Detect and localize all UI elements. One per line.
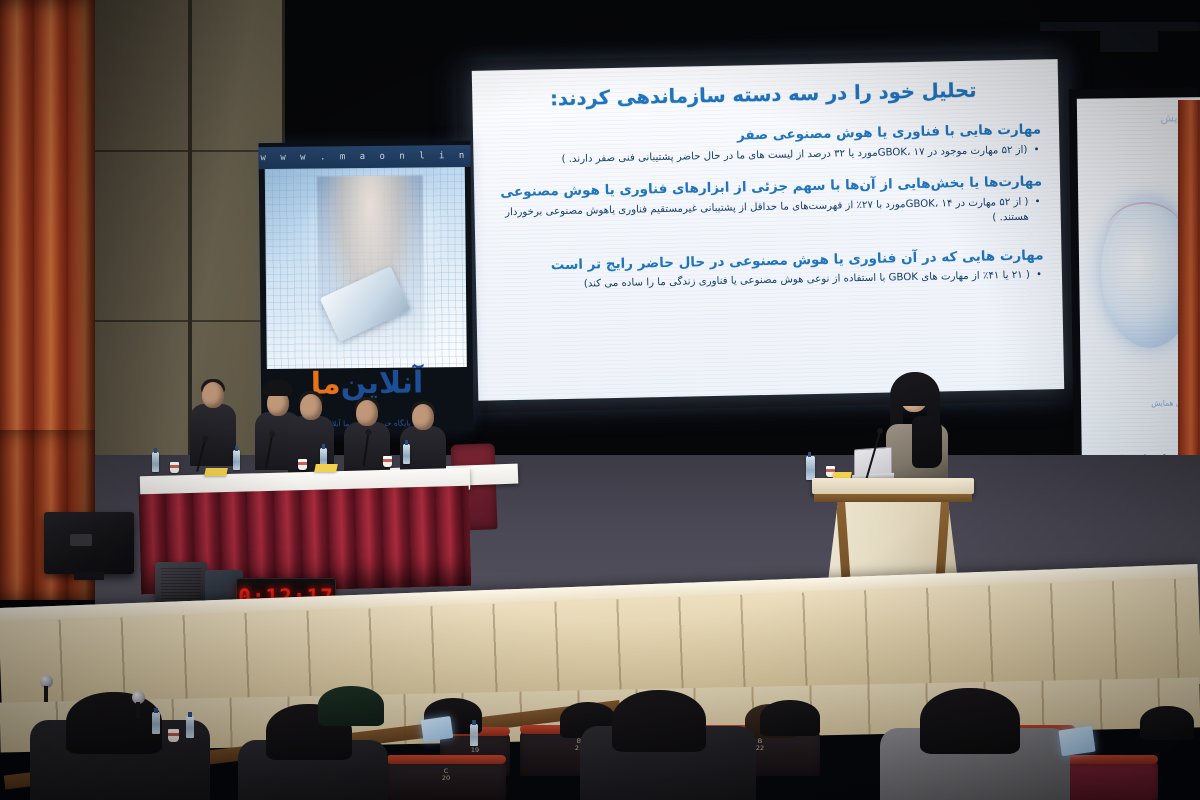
table-cup-3 (383, 456, 392, 467)
banner-website-url: w w w . m a o n l i n e . i r (259, 145, 471, 169)
audience-person-1-head (66, 692, 162, 754)
audience-cup-1 (168, 729, 179, 742)
handheld-microphone-1[interactable] (40, 675, 53, 688)
stage-monitor-rear (44, 512, 134, 574)
audience-bottle-1 (186, 716, 194, 738)
projection-screen-frame: تحلیل خود را در سه دسته سازماندهی کردند:… (456, 49, 1073, 413)
panelist-1 (190, 404, 236, 466)
banner-person-figure (317, 175, 425, 361)
handheld-microphone-2[interactable] (132, 691, 145, 704)
audience-bottle-2 (152, 712, 160, 734)
audience-tablet-screen-2[interactable] (1058, 726, 1095, 756)
panelist-5-head (412, 404, 434, 430)
podium-top-surface (812, 478, 974, 494)
seat-c-20-label: C20 (442, 768, 450, 783)
table-cup-1 (170, 462, 179, 473)
slide-title: تحلیل خود را در سه دسته سازماندهی کردند: (496, 76, 1030, 115)
conference-hall-scene: تحلیل خود را در سه دسته سازماندهی کردند:… (0, 0, 1200, 800)
seat-c-20[interactable]: C20 (386, 760, 506, 800)
seat-c-20-top (386, 755, 506, 764)
banner-logo-primary: آنلاین (340, 365, 423, 401)
table-papers-1 (204, 468, 228, 476)
table-papers-2 (314, 464, 338, 472)
panelist-2-turban (263, 380, 293, 396)
speaker-presenter (886, 372, 948, 484)
stage-monitor-stand (74, 572, 104, 580)
audience-person-3-head (612, 690, 706, 752)
wall-seam (188, 0, 192, 470)
table-cup-2 (298, 459, 307, 470)
presentation-slide: تحلیل خود را در سه دسته سازماندهی کردند:… (472, 59, 1065, 401)
audience-head-back-3 (1140, 706, 1194, 740)
audience-person-5-head (318, 686, 384, 726)
audience-person-7-head (760, 700, 820, 736)
audience-bottle-3 (470, 724, 478, 746)
banner-photo (265, 167, 467, 369)
podium-water-bottle (806, 456, 815, 480)
seat-b-22-label: B22 (756, 738, 764, 753)
table-water-bottle-2 (233, 450, 240, 470)
panelist-1-head (202, 382, 224, 408)
projection-screen: تحلیل خود را در سه دسته سازماندهی کردند:… (472, 59, 1065, 401)
panelist-3-head (300, 394, 322, 420)
speaker-scarf (912, 416, 942, 468)
table-water-bottle-1 (152, 452, 159, 472)
audience-person-4-head (920, 688, 1020, 754)
panelist-4-head (356, 400, 378, 426)
table-water-bottle-4 (403, 444, 410, 464)
ceiling-light-fixture (1100, 30, 1158, 52)
podium-trim-band (814, 494, 972, 502)
audience-tablet-screen[interactable] (421, 716, 454, 742)
